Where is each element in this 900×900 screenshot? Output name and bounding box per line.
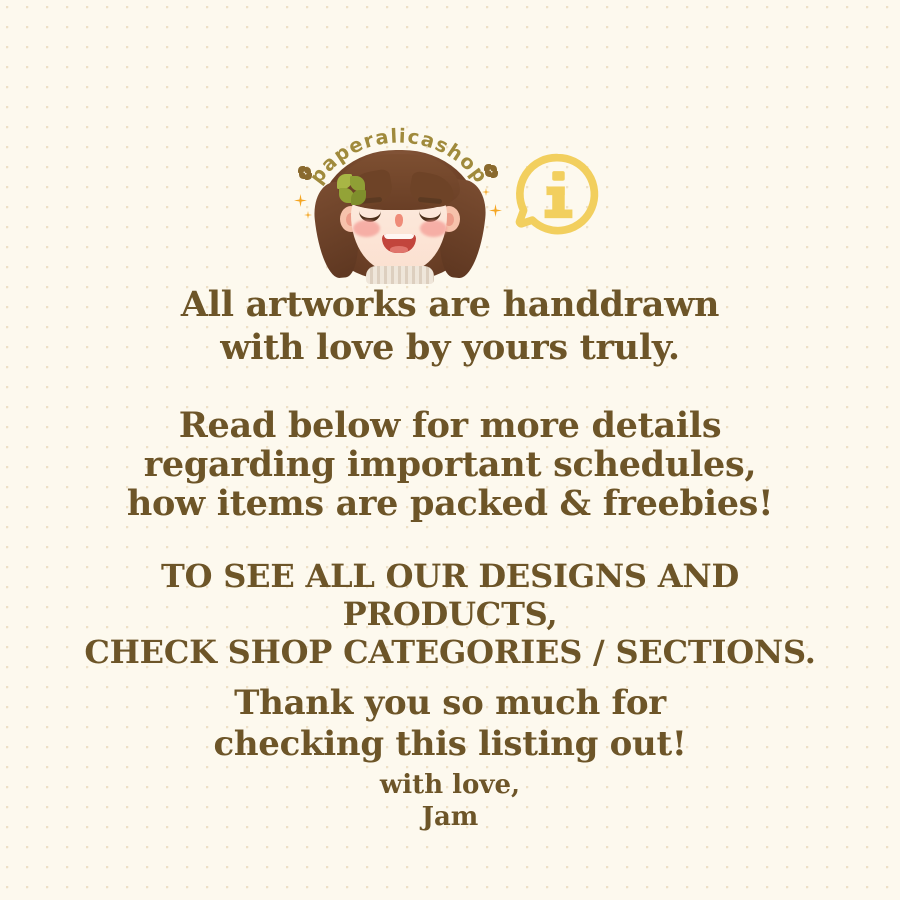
blush-left: [353, 220, 380, 237]
listing-info-card: paperalicashop: [0, 0, 900, 900]
blush-right: [420, 220, 447, 237]
header-row: paperalicashop: [0, 118, 900, 283]
intro-line-2: with love by yours truly.: [0, 326, 900, 369]
avatar: [310, 144, 488, 282]
nose: [395, 214, 403, 227]
designs-line-2: PRODUCTS,: [0, 595, 900, 633]
read-more-line-3: how items are packed & freebies!: [0, 484, 900, 523]
read-more-text-block: Read below for more details regarding im…: [0, 406, 900, 523]
info-letter: [545, 171, 573, 218]
brand-logo: paperalicashop: [294, 118, 504, 283]
thanks-text-block: Thank you so much for checking this list…: [0, 683, 900, 765]
read-more-line-1: Read below for more details: [0, 406, 900, 445]
intro-text-block: All artworks are handdrawn with love by …: [0, 283, 900, 369]
content-area: All artworks are handdrawn with love by …: [0, 283, 900, 833]
info-icon: [510, 150, 606, 246]
sparkle-icon-right-upper: [489, 204, 502, 217]
sparkle-icon-left-upper: [294, 194, 307, 207]
thanks-line-1: Thank you so much for: [0, 683, 900, 724]
signoff-line-1: with love,: [0, 769, 900, 801]
read-more-line-2: regarding important schedules,: [0, 445, 900, 484]
thanks-line-2: checking this listing out!: [0, 724, 900, 765]
signoff-text-block: with love, Jam: [0, 769, 900, 833]
signoff-line-2: Jam: [0, 801, 900, 833]
collar: [366, 266, 434, 284]
designs-text-block: TO SEE ALL OUR DESIGNS AND PRODUCTS, CHE…: [0, 557, 900, 671]
intro-line-1: All artworks are handdrawn: [0, 283, 900, 326]
designs-line-3: CHECK SHOP CATEGORIES / SECTIONS.: [0, 633, 900, 671]
clover-hair-clip-icon: [337, 174, 367, 206]
designs-line-1: TO SEE ALL OUR DESIGNS AND: [0, 557, 900, 595]
